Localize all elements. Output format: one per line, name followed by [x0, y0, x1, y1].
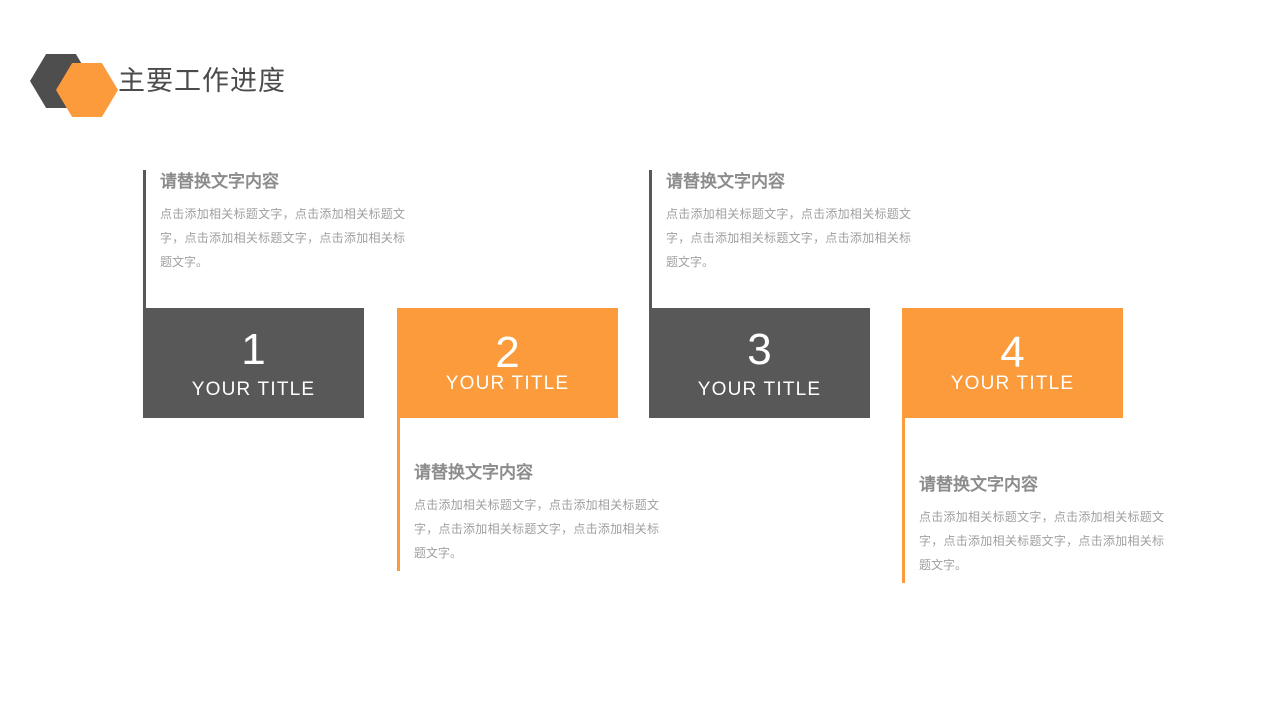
text-block-heading-4: 请替换文字内容 [919, 473, 1164, 497]
connector-3 [649, 290, 652, 308]
text-block-heading-1: 请替换文字内容 [160, 170, 405, 194]
connector-2 [397, 418, 400, 461]
connector-1 [143, 290, 146, 308]
step-title-2: YOUR TITLE [397, 373, 618, 395]
step-number-3: 3 [649, 327, 870, 373]
step-title-4: YOUR TITLE [902, 373, 1123, 395]
text-block-body-2: 点击添加相关标题文字，点击添加相关标题文字，点击添加相关标题文字，点击添加相关标… [414, 493, 659, 565]
step-box-4[interactable]: 4 YOUR TITLE [902, 308, 1123, 418]
slide-header: 主要工作进度 [30, 54, 430, 114]
step-number-1: 1 [143, 327, 364, 373]
accent-bar-2 [397, 461, 400, 571]
accent-bar-3 [649, 170, 652, 290]
step-title-1: YOUR TITLE [143, 379, 364, 401]
page-title: 主要工作进度 [118, 62, 286, 100]
accent-bar-4 [902, 473, 905, 583]
text-block-body-3: 点击添加相关标题文字，点击添加相关标题文字，点击添加相关标题文字，点击添加相关标… [666, 202, 911, 274]
text-block-body-4: 点击添加相关标题文字，点击添加相关标题文字，点击添加相关标题文字，点击添加相关标… [919, 505, 1164, 577]
step-title-3: YOUR TITLE [649, 379, 870, 401]
text-block-body-1: 点击添加相关标题文字，点击添加相关标题文字，点击添加相关标题文字，点击添加相关标… [160, 202, 405, 274]
step-box-1[interactable]: 1 YOUR TITLE [143, 308, 364, 418]
step-number-2: 2 [397, 330, 618, 376]
step-number-4: 4 [902, 330, 1123, 376]
accent-bar-1 [143, 170, 146, 290]
text-block-heading-3: 请替换文字内容 [666, 170, 911, 194]
step-box-3[interactable]: 3 YOUR TITLE [649, 308, 870, 418]
step-box-2[interactable]: 2 YOUR TITLE [397, 308, 618, 418]
text-block-heading-2: 请替换文字内容 [414, 461, 659, 485]
connector-4 [902, 418, 905, 473]
